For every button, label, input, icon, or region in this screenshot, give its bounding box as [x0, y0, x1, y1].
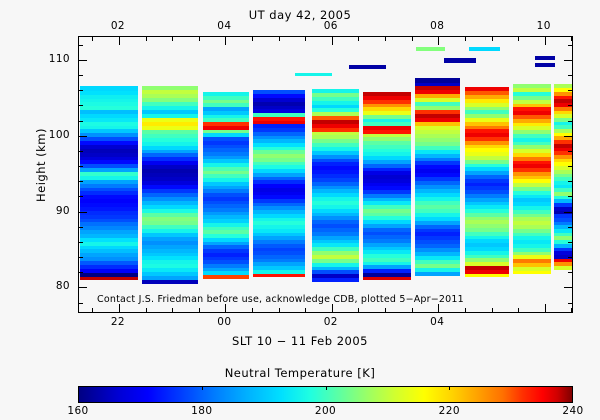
heatmap-cell	[513, 137, 551, 141]
heatmap-cell	[465, 144, 509, 148]
heatmap-cell	[312, 150, 359, 154]
heatmap-cell	[513, 92, 551, 96]
heatmap-cell	[554, 232, 572, 236]
heatmap-cell	[363, 242, 412, 246]
heatmap-cell	[415, 98, 460, 103]
heatmap-cell	[363, 114, 412, 118]
heatmap-cell	[363, 152, 412, 156]
heatmap-cell	[203, 174, 249, 178]
heatmap-cell	[415, 232, 460, 237]
heatmap-cell	[203, 95, 249, 99]
heatmap-cell	[312, 251, 359, 255]
heatmap-cell	[465, 209, 509, 213]
heatmap-cell	[203, 267, 249, 271]
heatmap-cell	[142, 272, 198, 277]
colorbar-tick	[326, 386, 327, 390]
heatmap-cell	[253, 221, 305, 225]
heatmap-cell	[80, 257, 138, 261]
heatmap-cell	[415, 102, 460, 107]
heatmap-cell	[253, 254, 305, 258]
heatmap-cell	[312, 123, 359, 127]
heatmap-cell	[513, 240, 551, 244]
heatmap-cell	[513, 168, 551, 172]
heatmap-cell	[203, 178, 249, 182]
top-axis-tick-label: 08	[430, 20, 444, 32]
heatmap-cell	[415, 224, 460, 229]
bottom-axis-tick-label: 04	[430, 316, 444, 328]
heatmap-cell	[253, 262, 305, 266]
heatmap-cell	[80, 164, 138, 168]
heatmap-cell	[363, 216, 412, 220]
heatmap-cell	[513, 114, 551, 118]
heatmap-cell	[80, 195, 138, 199]
heatmap-cell	[363, 269, 412, 273]
heatmap-cell	[513, 209, 551, 213]
heatmap-cell	[142, 86, 198, 91]
heatmap-cell	[80, 168, 138, 172]
heatmap-cell	[513, 194, 551, 198]
axis-tick	[568, 90, 572, 91]
heatmap-cell	[142, 137, 198, 142]
heatmap-cell	[513, 224, 551, 228]
heatmap-cell	[415, 90, 460, 95]
heatmap-cell	[142, 90, 198, 95]
heatmap-cell	[465, 163, 509, 167]
heatmap-cell	[465, 243, 509, 247]
heatmap-cell	[363, 190, 412, 194]
heatmap-cell	[80, 276, 138, 280]
heatmap-cell	[312, 270, 359, 274]
heatmap-cell	[253, 116, 305, 120]
heatmap-cell	[80, 102, 138, 106]
heatmap-cell	[312, 185, 359, 189]
axis-tick	[172, 37, 173, 41]
heatmap-cell	[203, 200, 249, 204]
heatmap-cell	[513, 266, 551, 270]
heatmap-cell	[554, 217, 572, 221]
heatmap-cell	[253, 247, 305, 251]
axis-tick	[146, 308, 147, 312]
heatmap-cell	[415, 78, 460, 83]
axis-tick	[79, 45, 83, 46]
heatmap-cell	[513, 88, 551, 92]
heatmap-cell	[312, 112, 359, 116]
heatmap-cell	[142, 161, 198, 166]
heatmap-cell	[415, 161, 460, 166]
heatmap-cell	[554, 221, 572, 225]
heatmap-cell	[415, 125, 460, 130]
heatmap-cell	[465, 193, 509, 197]
heatmap-cell	[415, 169, 460, 174]
heatmap-cell	[513, 198, 551, 202]
y-axis-tick-label: 110	[30, 53, 70, 65]
heatmap-cell	[253, 258, 305, 262]
heatmap-cell	[513, 179, 551, 183]
axis-tick	[568, 242, 572, 243]
heatmap-cell	[253, 139, 305, 143]
heatmap-cell	[253, 228, 305, 232]
heatmap-cell	[554, 247, 572, 251]
axis-tick	[79, 105, 83, 106]
heatmap-cell	[253, 239, 305, 243]
heatmap-cell	[203, 215, 249, 219]
heatmap-cell	[363, 257, 412, 261]
heatmap-cell	[80, 245, 138, 249]
heatmap-cell	[415, 110, 460, 115]
heatmap-cell	[312, 119, 359, 123]
heatmap-cell	[253, 161, 305, 165]
heatmap-cell	[312, 139, 359, 143]
heatmap-cell	[80, 191, 138, 195]
heatmap-cell	[363, 261, 412, 265]
heatmap-cell	[363, 110, 412, 114]
bottom-axis-title: SLT 10 − 11 Feb 2005	[0, 334, 600, 348]
heatmap-cell	[253, 120, 305, 124]
heatmap-cell	[203, 118, 249, 122]
heatmap-cell	[312, 158, 359, 162]
heatmap-cell	[253, 109, 305, 113]
heatmap-cell	[415, 153, 460, 158]
heatmap-cell	[465, 87, 509, 91]
heatmap-cell	[142, 264, 198, 269]
heatmap-cell	[415, 86, 460, 91]
axis-tick	[79, 181, 83, 182]
heatmap-cell	[513, 217, 551, 221]
heatmap-cell	[203, 125, 249, 129]
axis-tick	[79, 166, 83, 167]
heatmap-cell	[203, 275, 249, 279]
heatmap-cell	[363, 174, 412, 178]
heatmap-high-altitude-marker	[349, 65, 386, 69]
heatmap-cell	[142, 141, 198, 146]
figure-canvas: UT day 42, 2005 SLT 10 − 11 Feb 2005 Hei…	[0, 0, 600, 420]
heatmap-cell	[513, 187, 551, 191]
heatmap-cell	[513, 149, 551, 153]
heatmap-cell	[142, 145, 198, 150]
heatmap-cell	[513, 171, 551, 175]
heatmap-cell	[513, 259, 551, 263]
heatmap-cell	[465, 220, 509, 224]
heatmap-cell	[465, 133, 509, 137]
heatmap-cell	[363, 272, 412, 276]
axis-tick	[568, 181, 572, 182]
axis-tick	[305, 308, 306, 312]
heatmap-cell	[80, 148, 138, 152]
heatmap-cell	[415, 133, 460, 138]
heatmap-cell	[513, 205, 551, 209]
heatmap-cell	[253, 146, 305, 150]
heatmap-cell	[312, 197, 359, 201]
heatmap-cell	[80, 90, 138, 94]
heatmap-cell	[142, 240, 198, 245]
heatmap-cell	[363, 137, 412, 141]
axis-tick	[465, 37, 466, 41]
heatmap-cell	[513, 160, 551, 164]
heatmap-cell	[465, 239, 509, 243]
axis-tick	[332, 304, 333, 312]
heatmap-cell	[554, 191, 572, 195]
heatmap-cell	[363, 205, 412, 209]
heatmap-cell	[363, 95, 412, 99]
axis-tick	[252, 308, 253, 312]
heatmap-cell	[312, 278, 359, 282]
heatmap-cell	[554, 128, 572, 132]
heatmap-cell	[142, 125, 198, 130]
heatmap-cell	[80, 171, 138, 175]
heatmap-cell	[142, 133, 198, 138]
heatmap-cell	[142, 93, 198, 98]
heatmap-cell	[363, 254, 412, 258]
heatmap-cell	[253, 127, 305, 131]
heatmap-cell	[363, 186, 412, 190]
heatmap-cell	[80, 129, 138, 133]
heatmap-cell	[465, 91, 509, 95]
heatmap-cell	[554, 91, 572, 95]
heatmap-cell	[80, 133, 138, 137]
heatmap-cell	[415, 271, 460, 276]
axis-tick	[79, 272, 83, 273]
heatmap-cell	[465, 155, 509, 159]
heatmap-cell	[312, 231, 359, 235]
heatmap-cell	[363, 235, 412, 239]
heatmap-cell	[142, 97, 198, 102]
axis-tick	[225, 304, 226, 312]
heatmap-cell	[253, 105, 305, 109]
heatmap-cell	[253, 191, 305, 195]
axis-tick	[279, 37, 280, 41]
heatmap-cell	[253, 154, 305, 158]
heatmap-cell	[253, 98, 305, 102]
heatmap-cell	[465, 250, 509, 254]
heatmap-cell	[465, 254, 509, 258]
heatmap-cell	[465, 269, 509, 273]
heatmap-cell	[80, 253, 138, 257]
axis-tick	[465, 308, 466, 312]
heatmap-cell	[363, 141, 412, 145]
heatmap-cell	[312, 258, 359, 262]
heatmap-cell	[415, 252, 460, 257]
heatmap-cell	[80, 272, 138, 276]
heatmap-cell	[465, 129, 509, 133]
axis-tick	[564, 60, 572, 61]
heatmap-cell	[80, 202, 138, 206]
heatmap-cell	[203, 252, 249, 256]
heatmap-cell	[415, 204, 460, 209]
heatmap-cell	[203, 92, 249, 96]
heatmap-cell	[465, 140, 509, 144]
heatmap-cell	[415, 106, 460, 111]
heatmap-cell	[203, 129, 249, 133]
heatmap-cell	[80, 156, 138, 160]
heatmap-cell	[80, 230, 138, 234]
heatmap-cell	[80, 117, 138, 121]
axis-tick	[79, 151, 83, 152]
colorbar-tick-label: 160	[67, 405, 88, 417]
heatmap-cell	[203, 107, 249, 111]
heatmap-cell	[142, 165, 198, 170]
heatmap-cell	[142, 244, 198, 249]
heatmap-cell	[80, 141, 138, 145]
heatmap-cell	[554, 110, 572, 114]
heatmap-cell	[203, 211, 249, 215]
heatmap-cell	[554, 106, 572, 110]
heatmap-cell	[554, 125, 572, 129]
axis-tick	[568, 303, 572, 304]
heatmap-cell	[203, 230, 249, 234]
axis-tick	[252, 37, 253, 41]
heatmap-cell	[203, 136, 249, 140]
heatmap-cell	[253, 172, 305, 176]
heatmap-cell	[80, 210, 138, 214]
axis-tick	[564, 136, 572, 137]
axis-tick	[438, 304, 439, 312]
heatmap-high-altitude-marker	[469, 47, 500, 52]
axis-tick	[385, 308, 386, 312]
heatmap-cell	[363, 246, 412, 250]
heatmap-cell	[203, 222, 249, 226]
heatmap-cell	[363, 227, 412, 231]
heatmap-cell	[312, 212, 359, 216]
heatmap-cell	[513, 213, 551, 217]
axis-tick	[412, 37, 413, 41]
heatmap-cell	[203, 219, 249, 223]
heatmap-cell	[142, 109, 198, 114]
heatmap-cell	[465, 110, 509, 114]
heatmap-cell	[203, 260, 249, 264]
heatmap-cell	[513, 202, 551, 206]
axis-tick	[79, 303, 83, 304]
heatmap-high-altitude-marker	[444, 58, 476, 63]
heatmap-cell	[203, 159, 249, 163]
heatmap-cell	[363, 99, 412, 103]
heatmap-cell	[415, 244, 460, 249]
heatmap-cell	[312, 154, 359, 158]
heatmap-cell	[363, 231, 412, 235]
heatmap-cell	[253, 124, 305, 128]
heatmap-cell	[203, 110, 249, 114]
heatmap-cell	[253, 251, 305, 255]
heatmap-cell	[415, 228, 460, 233]
heatmap-cell	[253, 213, 305, 217]
heatmap-cell	[513, 255, 551, 259]
heatmap-cell	[80, 183, 138, 187]
heatmap-cell	[253, 131, 305, 135]
heatmap-cell	[203, 245, 249, 249]
heatmap-cell	[465, 98, 509, 102]
heatmap-cell	[465, 231, 509, 235]
heatmap-cell	[415, 129, 460, 134]
heatmap-cell	[415, 188, 460, 193]
axis-tick	[92, 37, 93, 41]
heatmap-cell	[465, 167, 509, 171]
heatmap-cell	[415, 185, 460, 190]
heatmap-cell	[363, 178, 412, 182]
heatmap-cell	[142, 260, 198, 265]
heatmap-cell	[465, 262, 509, 266]
heatmap-cell	[253, 217, 305, 221]
heatmap-cell	[80, 187, 138, 191]
heatmap-cell	[312, 208, 359, 212]
heatmap-cell	[363, 171, 412, 175]
heatmap-cell	[513, 103, 551, 107]
heatmap-cell	[203, 196, 249, 200]
heatmap-cell	[363, 182, 412, 186]
heatmap-cell	[203, 237, 249, 241]
axis-tick	[412, 308, 413, 312]
heatmap-cell	[465, 190, 509, 194]
heatmap-cell	[312, 204, 359, 208]
heatmap-cell	[363, 220, 412, 224]
heatmap-cell	[554, 99, 572, 103]
heatmap-cell	[203, 155, 249, 159]
heatmap-cell	[80, 199, 138, 203]
heatmap-cell	[203, 207, 249, 211]
heatmap-cell	[312, 127, 359, 131]
heatmap-cell	[142, 248, 198, 253]
heatmap-cell	[415, 267, 460, 272]
heatmap-cell	[80, 222, 138, 226]
heatmap-cell	[415, 121, 460, 126]
heatmap-cell	[465, 205, 509, 209]
heatmap-cell	[312, 170, 359, 174]
heatmap-cell	[465, 114, 509, 118]
heatmap-cell	[554, 228, 572, 232]
heatmap-cell	[142, 232, 198, 237]
colorbar-tick-label: 180	[191, 405, 212, 417]
heatmap-cell	[415, 82, 460, 87]
heatmap-cell	[513, 183, 551, 187]
heatmap-data-layer	[79, 37, 572, 312]
heatmap-cell	[465, 171, 509, 175]
colorbar-tick-label: 240	[562, 405, 583, 417]
heatmap-cell	[363, 159, 412, 163]
heatmap-cell	[465, 224, 509, 228]
heatmap-cell	[513, 164, 551, 168]
heatmap-cell	[312, 143, 359, 147]
heatmap-cell	[513, 243, 551, 247]
heatmap-cell	[312, 235, 359, 239]
heatmap-cell	[415, 177, 460, 182]
heatmap-cell	[554, 243, 572, 247]
axis-tick	[358, 308, 359, 312]
heatmap-cell	[253, 176, 305, 180]
heatmap-cell	[554, 154, 572, 158]
heatmap-cell	[554, 95, 572, 99]
heatmap-cell	[415, 208, 460, 213]
heatmap-cell	[142, 105, 198, 110]
heatmap-cell	[554, 169, 572, 173]
heatmap-cell	[312, 239, 359, 243]
heatmap-cell	[465, 265, 509, 269]
heatmap-cell	[253, 169, 305, 173]
heatmap-cell	[363, 92, 412, 96]
heatmap-cell	[465, 201, 509, 205]
heatmap-cell	[465, 159, 509, 163]
heatmap-cell	[415, 145, 460, 150]
heatmap-cell	[465, 273, 509, 277]
axis-tick	[492, 308, 493, 312]
heatmap-cell	[142, 212, 198, 217]
heatmap-cell	[80, 175, 138, 179]
heatmap-cell	[142, 189, 198, 194]
axis-tick	[568, 75, 572, 76]
heatmap-cell	[80, 214, 138, 218]
heatmap-cell	[203, 122, 249, 126]
axis-tick	[119, 304, 120, 312]
heatmap-cell	[253, 142, 305, 146]
heatmap-cell	[80, 121, 138, 125]
heatmap-cell	[363, 107, 412, 111]
